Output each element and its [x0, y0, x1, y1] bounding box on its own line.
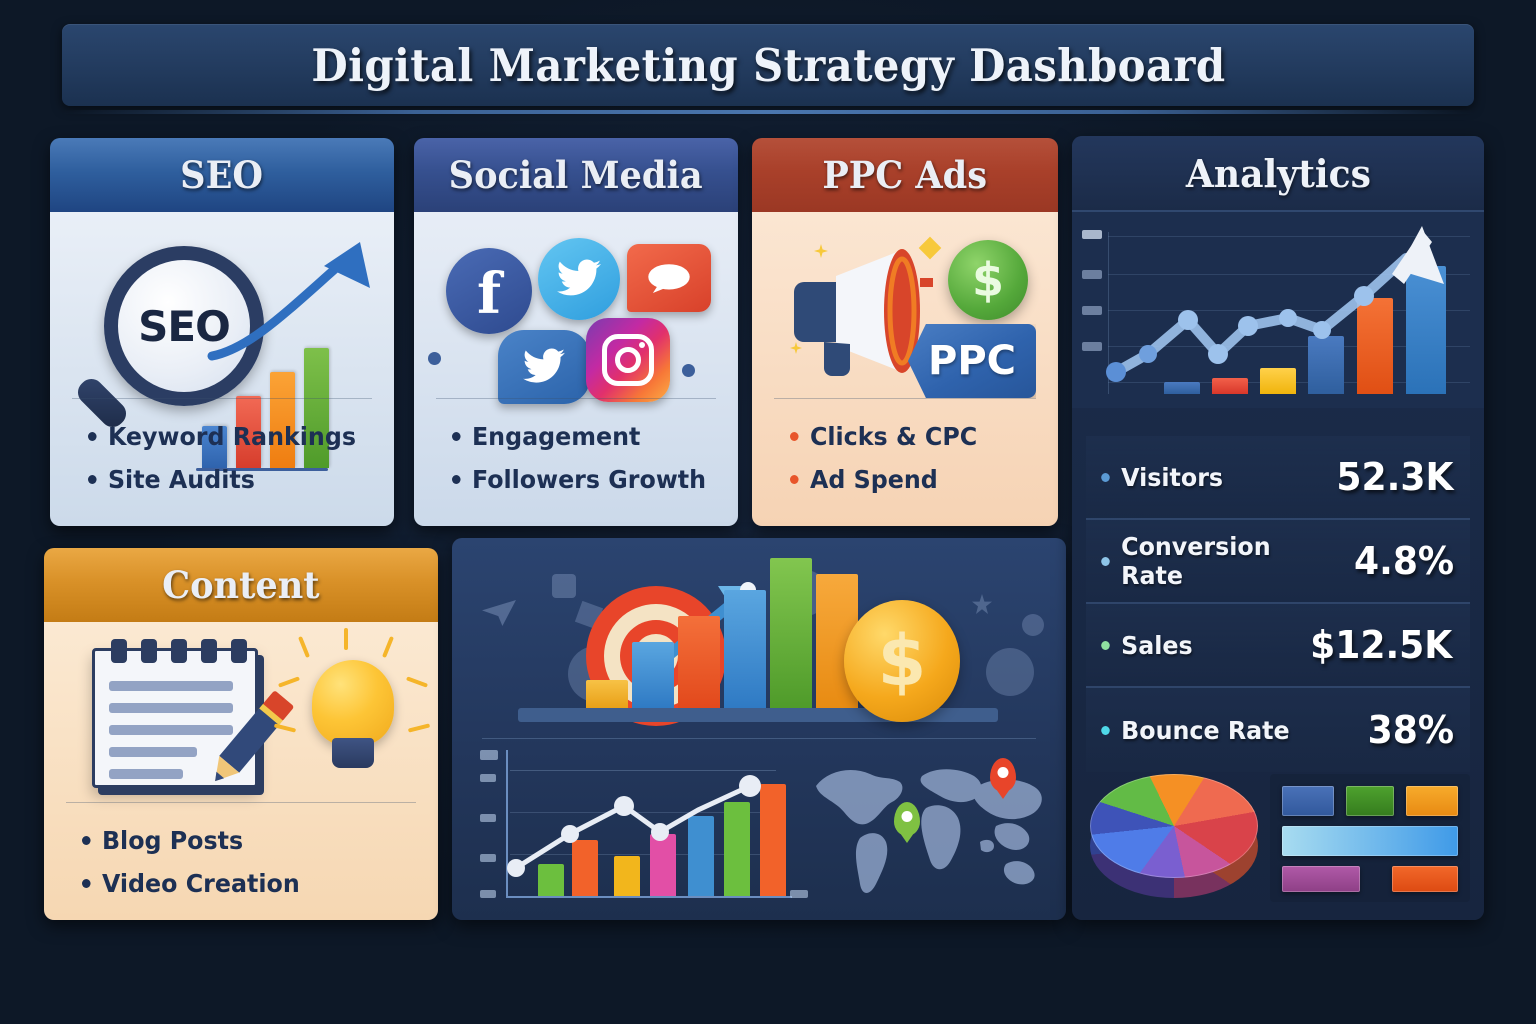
star-icon	[972, 594, 992, 614]
list-item-label: Site Audits	[108, 465, 255, 494]
decor-dot	[428, 352, 441, 365]
kpi-row-conversion-rate[interactable]: Conversion Rate 4.8%	[1086, 520, 1470, 604]
coin-label: $	[878, 620, 927, 702]
kpi-value: 4.8%	[1354, 539, 1467, 583]
kpi-label-text: Bounce Rate	[1121, 716, 1289, 745]
twitter-bubble-icon	[498, 330, 590, 404]
card-seo-title: SEO	[181, 153, 264, 197]
card-ppc-ads[interactable]: PPC Ads $ PPC	[752, 138, 1058, 526]
analytics-pie-chart	[1090, 774, 1258, 898]
kpi-row-sales[interactable]: Sales $12.5K	[1086, 604, 1470, 688]
card-seo-body: SEO Keyword	[50, 212, 394, 526]
title-underline	[62, 110, 1474, 114]
coin-label: $	[972, 253, 1004, 307]
kpi-label: Sales	[1086, 631, 1295, 660]
dollar-coin-icon: $	[844, 600, 960, 722]
list-item-label: Engagement	[472, 422, 640, 451]
analytics-header: Analytics	[1072, 136, 1484, 212]
kpi-label-text: Conversion Rate	[1121, 532, 1337, 590]
analytics-panel[interactable]: Analytics	[1072, 136, 1484, 920]
page-title: Digital Marketing Strategy Dashboard	[311, 39, 1225, 92]
kpi-dot	[1101, 557, 1110, 566]
list-item: Site Audits	[88, 465, 365, 494]
bullet-dot	[790, 475, 799, 484]
card-social-media-divider	[436, 398, 716, 399]
list-item: Clicks & CPC	[790, 422, 1031, 451]
bullet-dot	[82, 879, 91, 888]
card-ppc-ads-bullets: Clicks & CPC Ad Spend	[790, 422, 1044, 508]
bullet-dot	[88, 475, 97, 484]
list-item: Engagement	[452, 422, 710, 451]
bar	[586, 680, 628, 708]
bar	[770, 558, 812, 708]
list-item: Ad Spend	[790, 465, 1031, 494]
legend-swatch	[1392, 866, 1458, 892]
pencil-icon	[192, 680, 302, 800]
card-content-title: Content	[162, 563, 319, 607]
kpi-label-text: Sales	[1121, 631, 1193, 660]
card-content-divider	[66, 802, 416, 803]
decor-dot	[682, 364, 695, 377]
list-item-label: Followers Growth	[472, 465, 706, 494]
kpi-value: 38%	[1368, 708, 1468, 752]
bar	[632, 642, 674, 708]
card-content-body: Blog Posts Video Creation	[44, 622, 438, 920]
pie-surface	[1090, 774, 1258, 878]
legend-swatch	[1406, 786, 1458, 816]
dashboard-title-banner: Digital Marketing Strategy Dashboard	[62, 24, 1474, 106]
send-icon	[482, 600, 516, 626]
card-social-media-body: f Enga	[414, 212, 738, 526]
dollar-coin-icon: $	[948, 240, 1028, 320]
card-ppc-ads-divider	[774, 398, 1036, 399]
list-item-label: Video Creation	[102, 869, 300, 898]
bullet-dot	[88, 432, 97, 441]
list-item-label: Ad Spend	[810, 465, 938, 494]
facebook-icon: f	[446, 248, 532, 334]
card-seo[interactable]: SEO SEO	[50, 138, 394, 526]
card-ppc-ads-header: PPC Ads	[752, 138, 1058, 212]
card-ppc-ads-body: $ PPC Clicks & CPC Ad Spend	[752, 212, 1058, 526]
panel-divider	[482, 738, 1036, 739]
card-social-media-bullets: Engagement Followers Growth	[452, 422, 724, 508]
kpi-value: 52.3K	[1336, 455, 1466, 499]
list-item: Video Creation	[82, 869, 407, 898]
twitter-icon	[538, 238, 620, 320]
gear-icon	[986, 648, 1034, 696]
legend-bar	[1282, 826, 1458, 856]
card-content[interactable]: Content	[44, 548, 438, 920]
list-item: Blog Posts	[82, 826, 407, 855]
kpi-dot	[1101, 473, 1110, 482]
confetti-icon	[920, 278, 933, 287]
kpi-row-bounce-rate[interactable]: Bounce Rate 38%	[1086, 688, 1470, 772]
bar	[724, 590, 766, 708]
card-social-media[interactable]: Social Media f	[414, 138, 738, 526]
analytics-legend	[1270, 774, 1470, 902]
card-seo-header: SEO	[50, 138, 394, 212]
world-map-icon	[800, 746, 1050, 906]
dashboard-canvas: Digital Marketing Strategy Dashboard SEO…	[0, 0, 1536, 1024]
decor-square	[552, 574, 576, 598]
decor-circle	[1022, 614, 1044, 636]
legend-swatch	[1346, 786, 1394, 816]
card-content-header: Content	[44, 548, 438, 622]
bullet-dot	[82, 836, 91, 845]
marketing-visual-panel[interactable]: $	[452, 538, 1066, 920]
kpi-list: Visitors 52.3K Conversion Rate 4.8% Sale…	[1086, 436, 1470, 772]
list-item: Keyword Rankings	[88, 422, 365, 451]
kpi-label: Visitors	[1086, 463, 1320, 492]
kpi-row-visitors[interactable]: Visitors 52.3K	[1086, 436, 1470, 520]
trend-line	[502, 750, 802, 902]
card-ppc-ads-title: PPC Ads	[823, 153, 988, 197]
card-content-bullets: Blog Posts Video Creation	[82, 826, 424, 912]
ppc-tag-label: PPC	[928, 338, 1016, 384]
legend-swatch	[1282, 866, 1360, 892]
kpi-label-text: Visitors	[1121, 463, 1223, 492]
bar	[678, 616, 720, 708]
instagram-icon	[586, 318, 670, 402]
bullet-dot	[452, 432, 461, 441]
lightbulb-base-icon	[332, 738, 374, 768]
bullet-dot	[790, 432, 799, 441]
bullet-dot	[452, 475, 461, 484]
list-item-label: Keyword Rankings	[108, 422, 356, 451]
center-combo-chart	[480, 750, 800, 902]
list-item-label: Clicks & CPC	[810, 422, 977, 451]
list-item: Followers Growth	[452, 465, 710, 494]
chat-bubble-icon	[627, 244, 711, 312]
list-item-label: Blog Posts	[102, 826, 243, 855]
lightbulb-icon	[312, 660, 394, 746]
legend-swatch	[1282, 786, 1334, 816]
analytics-title: Analytics	[1185, 151, 1370, 196]
card-seo-bullets: Keyword Rankings Site Audits	[88, 422, 380, 508]
location-pin-icon	[894, 802, 920, 836]
location-pin-icon	[990, 758, 1016, 792]
kpi-value: $12.5K	[1310, 623, 1465, 667]
kpi-label: Bounce Rate	[1086, 716, 1351, 745]
ppc-tag-icon: PPC	[908, 324, 1036, 398]
kpi-dot	[1101, 726, 1110, 735]
card-seo-divider	[72, 398, 372, 399]
card-social-media-title: Social Media	[449, 153, 703, 197]
card-social-media-header: Social Media	[414, 138, 738, 212]
analytics-line-series	[1092, 212, 1472, 408]
kpi-dot	[1101, 641, 1110, 650]
analytics-trend-chart	[1072, 212, 1484, 408]
kpi-label: Conversion Rate	[1086, 532, 1337, 590]
